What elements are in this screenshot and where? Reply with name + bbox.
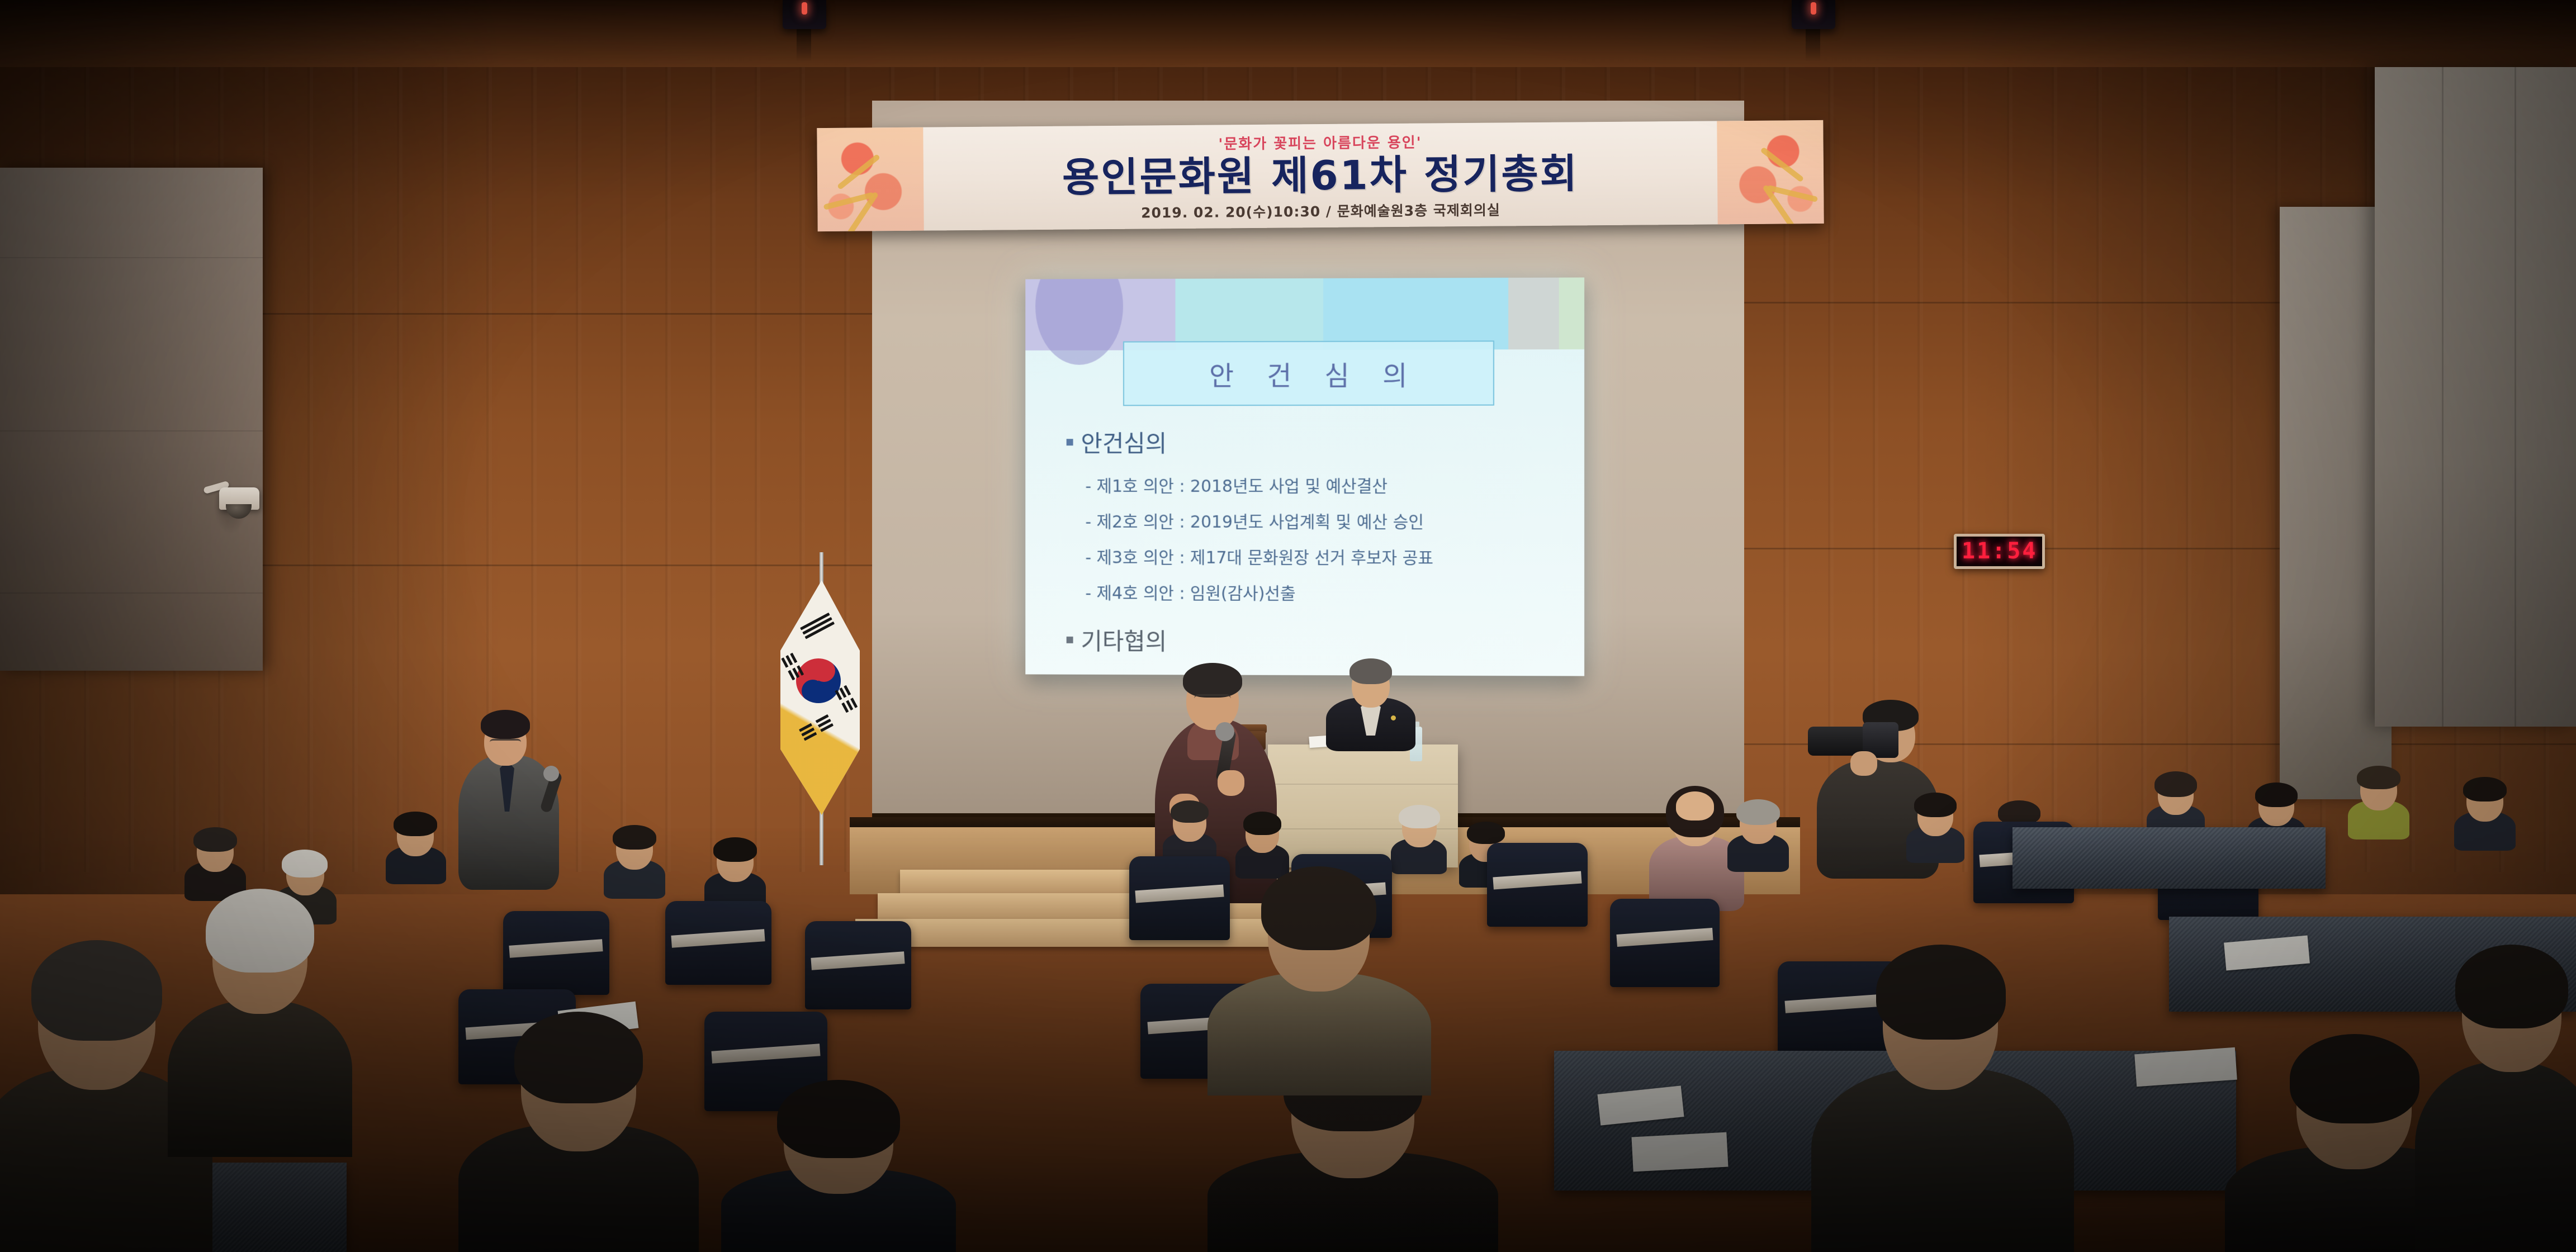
- taeguk-symbol-icon: [796, 658, 841, 703]
- audience-head: [1235, 812, 1289, 879]
- foreground-attendee: [168, 894, 352, 1157]
- list-item: - 제1호 의안 : 2018년도 사업 및 예산결산: [1085, 472, 1567, 497]
- digital-wall-clock: 11:54: [1954, 534, 2045, 569]
- right-wall-shadow: [1961, 0, 2576, 894]
- list-item: - 제3호 의안 : 제17대 문화원장 선거 후보자 공표: [1085, 544, 1567, 569]
- slide-title: 안 건 심 의: [1197, 354, 1419, 393]
- projection-screen: 안 건 심 의 안건심의 - 제1호 의안 : 2018년도 사업 및 예산결산…: [1025, 277, 1584, 676]
- slide-heading: 안건심의: [1081, 425, 1167, 459]
- bullet-square-icon: [1067, 439, 1073, 445]
- ceiling-light-left: [783, 0, 826, 29]
- standing-attendee-left: [458, 709, 559, 888]
- chair: [1487, 843, 1588, 927]
- banner-floral-left: [817, 127, 924, 231]
- lapel-pin-icon: [1391, 715, 1396, 720]
- slide-body: 안건심의 - 제1호 의안 : 2018년도 사업 및 예산결산 - 제2호 의…: [1067, 425, 1568, 658]
- event-banner: '문화가 꽃피는 아름다운 용인' 용인문화원 제61차 정기총회 2019. …: [817, 120, 1824, 231]
- chair: [503, 911, 609, 995]
- light-indicator-icon: [1811, 2, 1816, 15]
- banner-floral-right: [1717, 120, 1824, 224]
- photographer-hand: [1850, 751, 1877, 776]
- audience-head: [386, 812, 446, 884]
- chair: [805, 921, 911, 1009]
- korean-flag: [771, 560, 872, 856]
- conference-hall-photo: 11:54 '문화가 꽃피는 아름다운 용인' 용인문화원 제61차 정기총회 …: [0, 0, 2576, 1252]
- cctv-dome-camera-icon: [211, 482, 265, 523]
- audience-head: [2348, 766, 2409, 840]
- slide-heading2: 기타협의: [1081, 623, 1167, 657]
- left-wall-shadow: [0, 0, 503, 894]
- bullet-square-icon: [1067, 636, 1073, 643]
- foreground-attendee: [721, 1084, 956, 1252]
- banner-title: 용인문화원 제61차 정기총회: [926, 151, 1715, 200]
- handout-paper: [1631, 1132, 1728, 1172]
- slide-title-box: 안 건 심 의: [1123, 340, 1494, 406]
- audience-head: [704, 837, 766, 911]
- slide-decorative-blob: [1035, 277, 1123, 364]
- list-item: - 제2호 의안 : 2019년도 사업계획 및 예산 승인: [1085, 508, 1567, 533]
- ceiling-light-right: [1792, 0, 1835, 29]
- microphone-head-icon: [543, 766, 559, 781]
- list-item: - 제4호 의안 : 임원(감사)선출: [1085, 579, 1567, 605]
- clock-time: 11:54: [1962, 540, 2037, 562]
- audience-head: [2454, 777, 2516, 851]
- foreground-attendee: [1811, 950, 2074, 1252]
- speaker-hand: [1218, 770, 1244, 796]
- slide-heading-row: 안건심의: [1067, 425, 1568, 459]
- foreground-attendee: [458, 1017, 699, 1252]
- conference-table: [2012, 827, 2326, 889]
- foreground-attendee: [2415, 950, 2576, 1252]
- light-indicator-icon: [802, 2, 807, 15]
- chair: [665, 901, 771, 985]
- eyeglasses-icon: [490, 739, 521, 747]
- foreground-attendee: [1207, 872, 1431, 1095]
- slide-agenda-list: - 제1호 의안 : 2018년도 사업 및 예산결산 - 제2호 의안 : 2…: [1085, 472, 1567, 605]
- audience-head: [1906, 793, 1964, 863]
- audience-head: [604, 825, 665, 899]
- slide-heading2-row: 기타협의: [1067, 623, 1568, 658]
- microphone-head-icon: [1215, 722, 1234, 741]
- audience-head: [184, 827, 246, 901]
- eyeglasses-icon: [1194, 694, 1231, 704]
- banner-subtitle: 2019. 02. 20(수)10:30 / 문화예술원3층 국제회의실: [926, 197, 1715, 224]
- chairperson: [1326, 656, 1415, 751]
- chair: [1610, 899, 1720, 987]
- audience-head: [1727, 799, 1789, 872]
- audience-head: [1391, 805, 1447, 874]
